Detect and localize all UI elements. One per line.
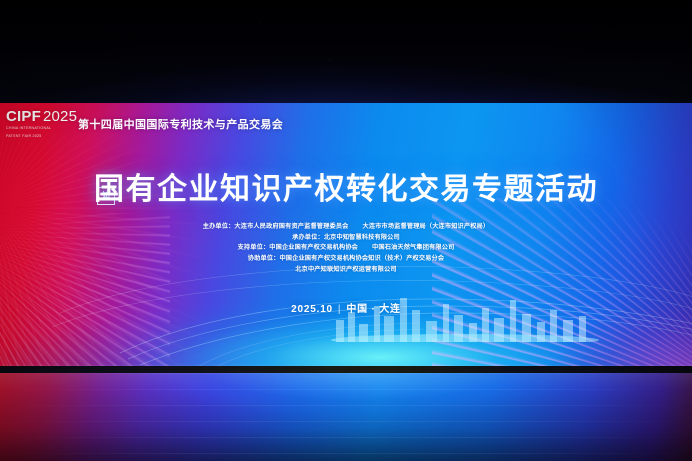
cipf-logo-year: 2025 <box>43 108 77 125</box>
city-skyline-graphic <box>330 290 600 342</box>
screen-header-strip: CIPF2025 CHINA INTERNATIONAL PATENT FAIR… <box>0 103 692 145</box>
cipf-logo-subtitle-line2: PATENT FAIR 2025 <box>6 134 68 139</box>
stage-photo: CIPF2025 CHINA INTERNATIONAL PATENT FAIR… <box>0 0 692 461</box>
organizer-value: 北京中产知联知识产权运营有限公司 <box>295 266 396 273</box>
organizer-value: 大连市市场监督管理局（大连市知识产权局） <box>363 223 490 230</box>
cipf-logo-text: CIPF <box>6 108 41 125</box>
date-separator: | <box>338 304 341 315</box>
organizer-line: 北京中产知联知识产权运营有限公司 <box>0 265 692 276</box>
fair-title: 第十四届中国国际专利技术与产品交易会 <box>78 116 283 132</box>
organizer-value: 大连市人民政府国有资产监督管理委员会 <box>234 223 348 230</box>
cipf-logo-wordmark: CIPF2025 <box>6 109 68 124</box>
organizer-label: 承办单位： <box>292 234 324 241</box>
organizer-value: 北京中知智慧科技有限公司 <box>324 234 400 241</box>
event-date: 2025.10 <box>291 304 333 315</box>
event-location: 中国 · 大连 <box>346 304 401 315</box>
organizer-line: 承办单位：北京中知智慧科技有限公司 <box>0 233 692 244</box>
organizer-value: 中国企业国有产权交易机构协会知识（技术）产权交易分会 <box>279 255 444 262</box>
organizer-label: 支持单位： <box>238 244 270 251</box>
ceiling-light-specks <box>0 0 692 110</box>
cipf-logo: CIPF2025 CHINA INTERNATIONAL PATENT FAIR… <box>6 109 68 138</box>
organizer-value: 中国企业国有产权交易机构协会 <box>269 244 358 251</box>
organizer-label: 主办单位： <box>203 223 235 230</box>
stage-front-edge <box>0 366 692 373</box>
organizer-line: 支持单位：中国企业国有产权交易机构协会中国石油天然气集团有限公司 <box>0 243 692 254</box>
led-screen: CIPF2025 CHINA INTERNATIONAL PATENT FAIR… <box>0 103 692 368</box>
organizer-list: 主办单位：大连市人民政府国有资产监督管理委员会大连市市场监督管理局（大连市知识产… <box>0 222 692 275</box>
event-main-title: 国有企业知识产权转化交易专题活动 <box>0 164 692 208</box>
cipf-logo-subtitle-line1: CHINA INTERNATIONAL <box>6 126 68 131</box>
organizer-line: 协助单位：中国企业国有产权交易机构协会知识（技术）产权交易分会 <box>0 254 692 265</box>
floor-reflection-streaks <box>0 373 692 461</box>
organizer-line: 主办单位：大连市人民政府国有资产监督管理委员会大连市市场监督管理局（大连市知识产… <box>0 222 692 233</box>
event-date-location: 2025.10|中国 · 大连 <box>0 300 692 315</box>
organizer-label: 协助单位： <box>248 255 280 262</box>
organizer-value: 中国石油天然气集团有限公司 <box>372 244 454 251</box>
